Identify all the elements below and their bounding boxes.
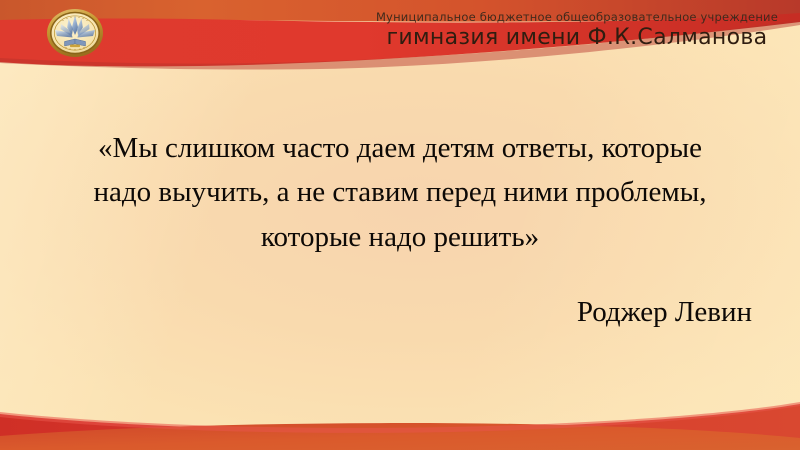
quote-author: Роджер Левин	[577, 296, 752, 329]
quote-line-2: надо выучить, а не ставим перед ними про…	[42, 170, 758, 214]
quote-line-1: «Мы слишком часто даем детям ответы, кот…	[42, 126, 758, 170]
institution-header: Муниципальное бюджетное общеобразователь…	[376, 12, 778, 49]
quote-line-3: которые надо решить»	[42, 215, 758, 259]
school-emblem-icon	[46, 8, 104, 58]
institution-name-label: гимназия имени Ф.К.Салманова	[376, 27, 778, 49]
institution-type-label: Муниципальное бюджетное общеобразователь…	[376, 12, 778, 24]
quote-block: «Мы слишком часто даем детям ответы, кот…	[42, 126, 758, 259]
slide-canvas: Муниципальное бюджетное общеобразователь…	[0, 0, 800, 450]
